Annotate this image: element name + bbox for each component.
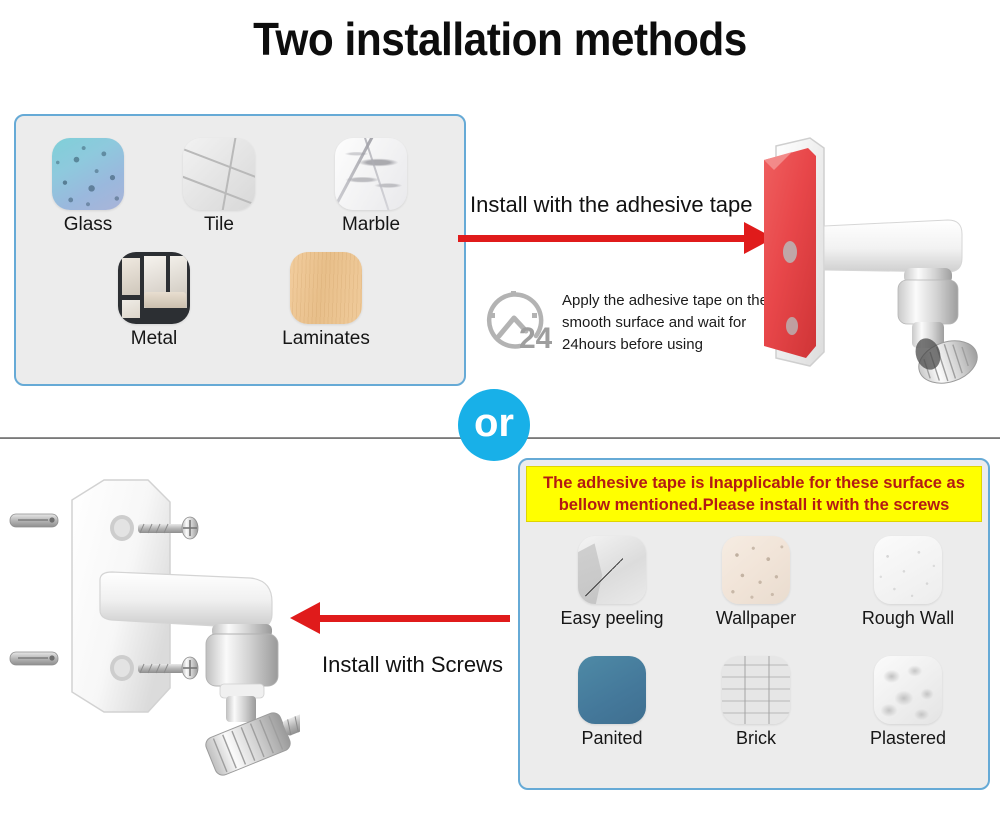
laminates-swatch-icon bbox=[290, 252, 362, 324]
surface-item-brick[interactable]: Brick bbox=[698, 656, 814, 749]
surface-label: Glass bbox=[40, 214, 136, 236]
surface-item-painted[interactable]: Panited bbox=[552, 656, 672, 749]
wall-anchor bbox=[10, 652, 58, 665]
surface-item-wallpaper[interactable]: Wallpaper bbox=[696, 536, 816, 629]
surface-label: Easy peeling bbox=[548, 608, 676, 629]
plastered-swatch-icon bbox=[874, 656, 942, 724]
surface-item-laminates[interactable]: Laminates bbox=[266, 252, 386, 350]
surface-label: Marble bbox=[316, 214, 426, 236]
marble-swatch-icon bbox=[335, 138, 407, 210]
surface-label: Plastered bbox=[844, 728, 972, 749]
surface-item-glass[interactable]: Glass bbox=[40, 138, 136, 236]
svg-text:24: 24 bbox=[519, 322, 552, 354]
surface-item-tile[interactable]: Tile bbox=[171, 138, 267, 236]
adhesive-warning-banner: The adhesive tape is Inapplicable for th… bbox=[526, 466, 982, 522]
surface-label: Laminates bbox=[266, 328, 386, 350]
surface-label: Panited bbox=[552, 728, 672, 749]
arrow-left-shaft bbox=[320, 615, 510, 622]
surface-label: Tile bbox=[171, 214, 267, 236]
clock-24h-icon: 24 bbox=[476, 278, 552, 354]
wall-bracket-with-screws-image bbox=[0, 462, 300, 802]
wall-bracket-with-adhesive-pad-image bbox=[752, 130, 992, 398]
metal-swatch-icon bbox=[118, 252, 190, 324]
arrow-right-shaft bbox=[458, 235, 748, 242]
wallpaper-swatch-icon bbox=[722, 536, 790, 604]
brick-swatch-icon bbox=[722, 656, 790, 724]
tile-swatch-icon bbox=[183, 138, 255, 210]
surface-item-marble[interactable]: Marble bbox=[316, 138, 426, 236]
surface-label: Brick bbox=[698, 728, 814, 749]
unsuitable-surfaces-grid: Easy peeling Wallpaper Rough Wall Panite… bbox=[526, 532, 982, 782]
surface-label: Wallpaper bbox=[696, 608, 816, 629]
painted-swatch-icon bbox=[578, 656, 646, 724]
wall-anchor bbox=[10, 514, 58, 527]
surface-item-plastered[interactable]: Plastered bbox=[844, 656, 972, 749]
adhesive-tape-heading: Install with the adhesive tape bbox=[470, 192, 753, 218]
surface-item-rough-wall[interactable]: Rough Wall bbox=[846, 536, 970, 629]
surface-label: Rough Wall bbox=[846, 608, 970, 629]
easy-peeling-swatch-icon bbox=[578, 536, 646, 604]
surface-item-metal[interactable]: Metal bbox=[104, 252, 204, 350]
or-badge: or bbox=[458, 389, 530, 461]
glass-swatch-icon bbox=[52, 138, 124, 210]
install-with-screws-heading: Install with Screws bbox=[322, 652, 503, 678]
surface-item-easy-peeling[interactable]: Easy peeling bbox=[548, 536, 676, 629]
rough-wall-swatch-icon bbox=[874, 536, 942, 604]
page-title: Two installation methods bbox=[40, 12, 960, 66]
surface-label: Metal bbox=[104, 328, 204, 350]
suitable-surfaces-panel: Glass Tile Marble Metal Laminates bbox=[14, 114, 466, 386]
